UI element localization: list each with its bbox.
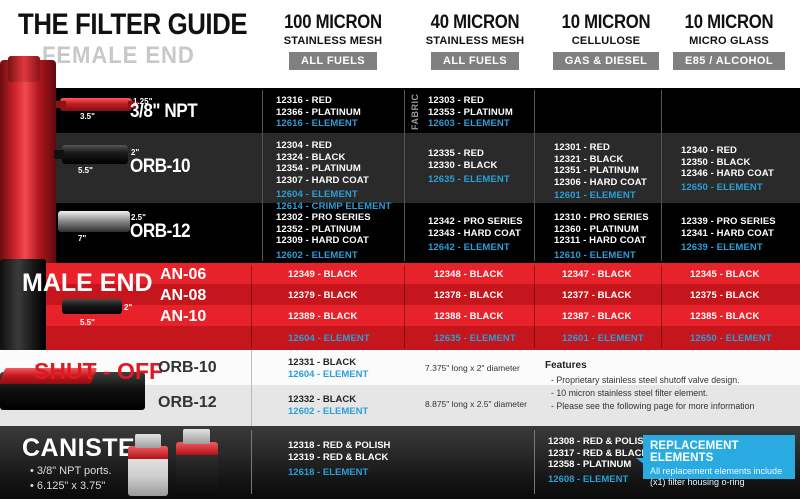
part-number: 12324 - BLACK [276, 152, 391, 164]
cell-element-40micron: 12635 - ELEMENT [434, 333, 516, 344]
shutoff-element-orb12: 12602 - ELEMENT [288, 406, 368, 417]
part-number: 12303 - RED [428, 95, 513, 107]
shutoff-dimension-orb12: 8.875" long x 2.5" diameter [425, 399, 527, 409]
cell-orb10-10micron-cellulose: 12301 - RED 12321 - BLACK 12351 - PLATIN… [554, 142, 647, 202]
row-label-an06: AN-06 [160, 266, 255, 284]
cell-an06-10micron-microglass: 12345 - BLACK [690, 269, 759, 280]
column-material-label: STAINLESS MESH [400, 35, 550, 47]
canister-mesh-parts: 12318 - RED & POLISH 12319 - RED & BLACK… [288, 440, 390, 479]
canister-bullet-1: • 3/8" NPT ports. [30, 465, 112, 477]
features-line-3: - Please see the following page for more… [551, 401, 754, 411]
filter-photo-orb12 [58, 211, 130, 232]
cell-an06-40micron: 12348 - BLACK [434, 269, 503, 280]
shutoff-dimension-orb10: 7.375" long x 2" diameter [425, 363, 520, 373]
row-label-shutoff-orb12: ORB-12 [158, 394, 217, 412]
filter-photo-male [62, 299, 122, 314]
part-number: 12330 - BLACK [428, 160, 510, 172]
cell-an06-100micron: 12349 - BLACK [288, 269, 357, 280]
part-number-element: 12608 - ELEMENT [548, 474, 650, 486]
replacement-callout-note: All replacement elements include (x1) fi… [650, 466, 788, 488]
part-number: 12301 - RED [554, 142, 647, 154]
column-micron-label: 40 MICRON [409, 12, 541, 34]
column-material-label: MICRO GLASS [655, 35, 800, 47]
part-number: 12335 - RED [428, 148, 510, 160]
part-number-element: 12601 - ELEMENT [554, 190, 647, 202]
part-number-element: 12602 - ELEMENT [276, 250, 371, 262]
part-number: 12350 - BLACK [681, 157, 774, 169]
cell-orb12-10micron-cellulose: 12310 - PRO SERIES 12360 - PLATINUM 1231… [554, 212, 649, 261]
part-number: 12360 - PLATINUM [554, 224, 649, 236]
fabric-vertical-label: FABRIC [410, 94, 420, 130]
part-number: 12366 - PLATINUM [276, 107, 361, 119]
column-divider-1 [262, 90, 263, 261]
cell-an08-10micron-microglass: 12375 - BLACK [690, 290, 759, 301]
replacement-callout-title: REPLACEMENT ELEMENTS [650, 440, 788, 464]
part-number: 12321 - BLACK [554, 154, 647, 166]
row-label-orb10: ORB-10 [130, 156, 255, 178]
shutoff-title: SHUT - OFF [34, 358, 163, 385]
part-number: 12342 - PRO SERIES [428, 216, 523, 228]
part-number: 12351 - PLATINUM [554, 165, 647, 177]
cell-npt-100micron: 12316 - RED 12366 - PLATINUM 12616 - ELE… [276, 95, 361, 130]
cell-orb10-40micron: 12335 - RED 12330 - BLACK 12635 - ELEMEN… [428, 148, 510, 186]
features-line-2: - 10 micron stainless steel filter eleme… [551, 388, 708, 398]
female-end-table: 1.25" 3.5" 2" 5.5" 2.5" 7" 3/8" NPT ORB-… [0, 88, 800, 263]
shutoff-divider-0 [251, 350, 252, 426]
part-number: 12304 - RED [276, 140, 391, 152]
male-end-title: MALE END [22, 269, 153, 298]
filter-photo-orb10-endcap [54, 150, 64, 159]
column-fuel-badge: E85 / ALCOHOL [673, 52, 785, 70]
header-bar: THE FILTER GUIDE FEMALE END 100 MICRON S… [0, 0, 800, 88]
male-end-section: 2" 5.5" MALE END AN-06 AN-08 AN-10 12349… [0, 263, 800, 350]
part-number-element: 12635 - ELEMENT [428, 174, 510, 186]
part-number: 12309 - HARD COAT [276, 235, 371, 247]
column-micron-label: 10 MICRON [539, 12, 673, 34]
part-number: 12318 - RED & POLISH [288, 440, 390, 452]
cell-orb12-40micron: 12342 - PRO SERIES 12343 - HARD COAT 126… [428, 216, 523, 254]
column-header-40-micron: 40 MICRON STAINLESS MESH ALL FUELS [400, 12, 550, 70]
table-row-orb10 [0, 133, 800, 203]
cell-an10-40micron: 12388 - BLACK [434, 311, 503, 322]
part-number: 12354 - PLATINUM [276, 163, 391, 175]
features-title: Features [545, 360, 587, 371]
features-line-1: - Proprietary stainless steel shutoff va… [551, 375, 740, 385]
cell-npt-40micron: 12303 - RED 12353 - PLATINUM 12603 - ELE… [428, 95, 513, 130]
column-fuel-badge: GAS & DIESEL [553, 52, 659, 70]
column-divider-4 [661, 90, 662, 261]
cell-orb10-10micron-microglass: 12340 - RED 12350 - BLACK 12346 - HARD C… [681, 145, 774, 193]
column-divider-3 [534, 90, 535, 261]
male-column-divider-0 [251, 265, 252, 348]
dimension-diameter-male: 2" [124, 303, 132, 312]
part-number-element: 12610 - ELEMENT [554, 250, 649, 262]
part-number-element: 12618 - ELEMENT [288, 467, 390, 479]
canister-bullet-2: • 6.125" x 3.75" [30, 480, 105, 492]
cell-orb12-100micron: 12302 - PRO SERIES 12352 - PLATINUM 1230… [276, 212, 371, 261]
canister-divider-1 [534, 430, 535, 494]
filter-guide-page: THE FILTER GUIDE FEMALE END 100 MICRON S… [0, 0, 800, 499]
row-label-an10: AN-10 [160, 308, 255, 326]
cell-an08-10micron-cellulose: 12377 - BLACK [562, 290, 631, 301]
cell-orb10-100micron: 12304 - RED 12324 - BLACK 12354 - PLATIN… [276, 140, 391, 213]
male-column-divider-2 [534, 265, 535, 348]
male-column-divider-3 [661, 265, 662, 348]
cell-orb12-10micron-microglass: 12339 - PRO SERIES 12341 - HARD COAT 126… [681, 216, 776, 254]
cell-element-100micron: 12604 - ELEMENT [288, 333, 370, 344]
part-number: 12310 - PRO SERIES [554, 212, 649, 224]
cell-an10-10micron-microglass: 12385 - BLACK [690, 311, 759, 322]
part-number: 12311 - HARD COAT [554, 235, 649, 247]
column-fuel-badge: ALL FUELS [431, 52, 519, 70]
shutoff-part-orb10: 12331 - BLACK [288, 357, 356, 368]
column-micron-label: 10 MICRON [664, 12, 794, 34]
column-header-10-micron-micro-glass: 10 MICRON MICRO GLASS E85 / ALCOHOL [655, 12, 800, 70]
column-header-100-micron: 100 MICRON STAINLESS MESH ALL FUELS [258, 12, 408, 70]
part-number: 12339 - PRO SERIES [681, 216, 776, 228]
part-number-element: 12603 - ELEMENT [428, 118, 513, 130]
shutoff-section: SHUT - OFF ORB-10 ORB-12 12331 - BLACK 1… [0, 350, 800, 426]
part-number: 12306 - HARD COAT [554, 177, 647, 189]
cell-an08-40micron: 12378 - BLACK [434, 290, 503, 301]
part-number: 12352 - PLATINUM [276, 224, 371, 236]
column-micron-label: 100 MICRON [267, 12, 399, 34]
row-label-shutoff-orb10: ORB-10 [158, 359, 217, 377]
shutoff-part-orb12: 12332 - BLACK [288, 394, 356, 405]
part-number: 12343 - HARD COAT [428, 228, 523, 240]
dimension-length-male: 5.5" [80, 318, 95, 327]
part-number: 12319 - RED & BLACK [288, 452, 390, 464]
replacement-elements-callout: REPLACEMENT ELEMENTS All replacement ele… [643, 435, 795, 479]
canister-photo-polish-bracket [135, 434, 161, 448]
row-label-orb12: ORB-12 [130, 221, 255, 243]
canister-photo-black-bracket [183, 429, 210, 444]
cell-an10-100micron: 12389 - BLACK [288, 311, 357, 322]
part-number: 12341 - HARD COAT [681, 228, 776, 240]
dimension-length-npt: 3.5" [80, 112, 95, 121]
part-number-element: 12616 - ELEMENT [276, 118, 361, 130]
cell-element-10micron-cellulose: 12601 - ELEMENT [562, 333, 644, 344]
row-label-an08: AN-08 [160, 287, 255, 305]
cell-an10-10micron-cellulose: 12387 - BLACK [562, 311, 631, 322]
cell-an08-100micron: 12379 - BLACK [288, 290, 357, 301]
canister-divider-0 [251, 430, 252, 494]
filter-photo-npt-endcap [56, 101, 66, 108]
part-number-element: 12642 - ELEMENT [428, 242, 523, 254]
part-number: 12307 - HARD COAT [276, 175, 391, 187]
part-number: 12353 - PLATINUM [428, 107, 513, 119]
part-number: 12308 - RED & POLISH [548, 436, 650, 448]
part-number: 12346 - HARD COAT [681, 168, 774, 180]
part-number: 12316 - RED [276, 95, 361, 107]
male-column-divider-1 [404, 265, 405, 348]
page-title: THE FILTER GUIDE [18, 8, 247, 42]
red-canister-cap-photo [8, 56, 40, 82]
column-fuel-badge: ALL FUELS [289, 52, 377, 70]
filter-photo-npt [60, 98, 132, 111]
part-number-element: 12639 - ELEMENT [681, 242, 776, 254]
section-subtitle-female-end: FEMALE END [42, 42, 195, 70]
column-material-label: STAINLESS MESH [258, 35, 408, 47]
cell-element-10micron-microglass: 12650 - ELEMENT [690, 333, 772, 344]
part-number: 12340 - RED [681, 145, 774, 157]
part-number-crimp-element: 12614 - CRIMP ELEMENT [276, 201, 391, 213]
shutoff-element-orb10: 12604 - ELEMENT [288, 369, 368, 380]
male-row-elements [0, 326, 800, 350]
dimension-length-orb12: 7" [78, 234, 86, 243]
part-number: 12302 - PRO SERIES [276, 212, 371, 224]
dimension-length-orb10: 5.5" [78, 166, 93, 175]
cell-an06-10micron-cellulose: 12347 - BLACK [562, 269, 631, 280]
filter-photo-orb10 [62, 145, 128, 164]
row-label-npt: 3/8" NPT [130, 101, 255, 123]
part-number-element: 12604 - ELEMENT [276, 189, 391, 201]
part-number-element: 12650 - ELEMENT [681, 182, 774, 194]
column-divider-2 [404, 90, 405, 261]
